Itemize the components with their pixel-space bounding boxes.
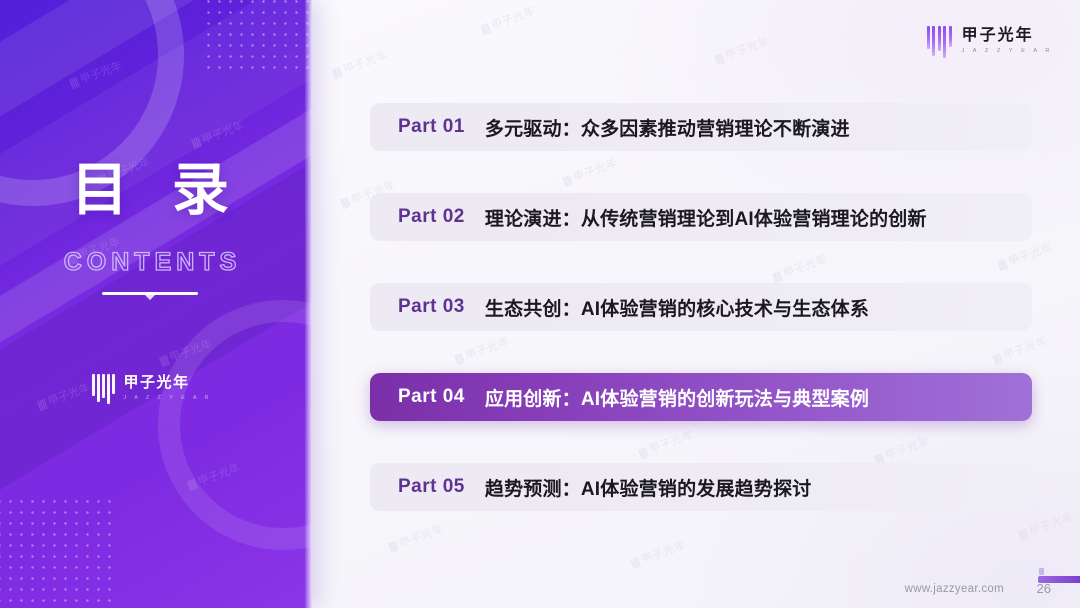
- brand-name-en: J A Z Z Y E A R: [124, 396, 212, 402]
- section-title: 多元驱动：众多因素推动营销理论不断演进: [485, 114, 850, 141]
- logo-bars-icon: [927, 26, 952, 56]
- panel-edge-highlight: [305, 0, 312, 608]
- brand-name-cn: 甲子光年: [124, 376, 212, 391]
- section-title: 趋势预测：AI体验营销的发展趋势探讨: [485, 474, 812, 501]
- part-label: Part 05: [398, 476, 465, 498]
- contents-list: Part 01 多元驱动：众多因素推动营销理论不断演进 Part 02 理论演进…: [370, 103, 1032, 511]
- brand-logo-text: 甲子光年 J A Z Z Y E A R: [124, 376, 212, 402]
- cover-title-en: CONTENTS: [0, 248, 300, 277]
- brand-logo-top-right: 甲子光年 J A Z Z Y E A R: [927, 26, 1053, 56]
- footer-accent-bar: [1038, 576, 1080, 583]
- contents-item-04[interactable]: Part 04 应用创新：AI体验营销的创新玩法与典型案例: [370, 373, 1032, 421]
- page-number: 26: [1037, 581, 1051, 596]
- footer-accent-dot: [1039, 568, 1044, 575]
- cover-divider: [102, 292, 198, 295]
- part-label: Part 04: [398, 386, 465, 408]
- slide-footer: www.jazzyear.com 26: [660, 566, 1080, 608]
- part-label: Part 03: [398, 296, 465, 318]
- contents-item-03[interactable]: Part 03 生态共创：AI体验营销的核心技术与生态体系: [370, 283, 1032, 331]
- brand-name-en: J A Z Z Y E A R: [962, 49, 1053, 55]
- cover-text-block: 目 录 CONTENTS 甲子光年 J A Z Z Y E A R: [0, 0, 312, 608]
- cover-title-cn: 目 录: [0, 162, 300, 219]
- website-url[interactable]: www.jazzyear.com: [905, 583, 1004, 595]
- brand-name-cn: 甲子光年: [962, 28, 1053, 44]
- brand-logo-text: 甲子光年 J A Z Z Y E A R: [962, 28, 1053, 55]
- section-title: 应用创新：AI体验营销的创新玩法与典型案例: [485, 384, 869, 411]
- slide-canvas: |||| 甲子光年 |||| 甲子光年 |||| 甲子光年 |||| 甲子光年 …: [0, 0, 1080, 608]
- logo-bars-icon: [92, 374, 115, 404]
- contents-item-02[interactable]: Part 02 理论演进：从传统营销理论到AI体验营销理论的创新: [370, 193, 1032, 241]
- contents-item-05[interactable]: Part 05 趋势预测：AI体验营销的发展趋势探讨: [370, 463, 1032, 511]
- brand-logo-left: 甲子光年 J A Z Z Y E A R: [92, 374, 212, 404]
- part-label: Part 01: [398, 116, 465, 138]
- part-label: Part 02: [398, 206, 465, 228]
- contents-item-01[interactable]: Part 01 多元驱动：众多因素推动营销理论不断演进: [370, 103, 1032, 151]
- section-title: 生态共创：AI体验营销的核心技术与生态体系: [485, 294, 869, 321]
- section-title: 理论演进：从传统营销理论到AI体验营销理论的创新: [485, 204, 927, 231]
- left-cover-panel: |||| 甲子光年 |||| 甲子光年 |||| 甲子光年 |||| 甲子光年 …: [0, 0, 312, 608]
